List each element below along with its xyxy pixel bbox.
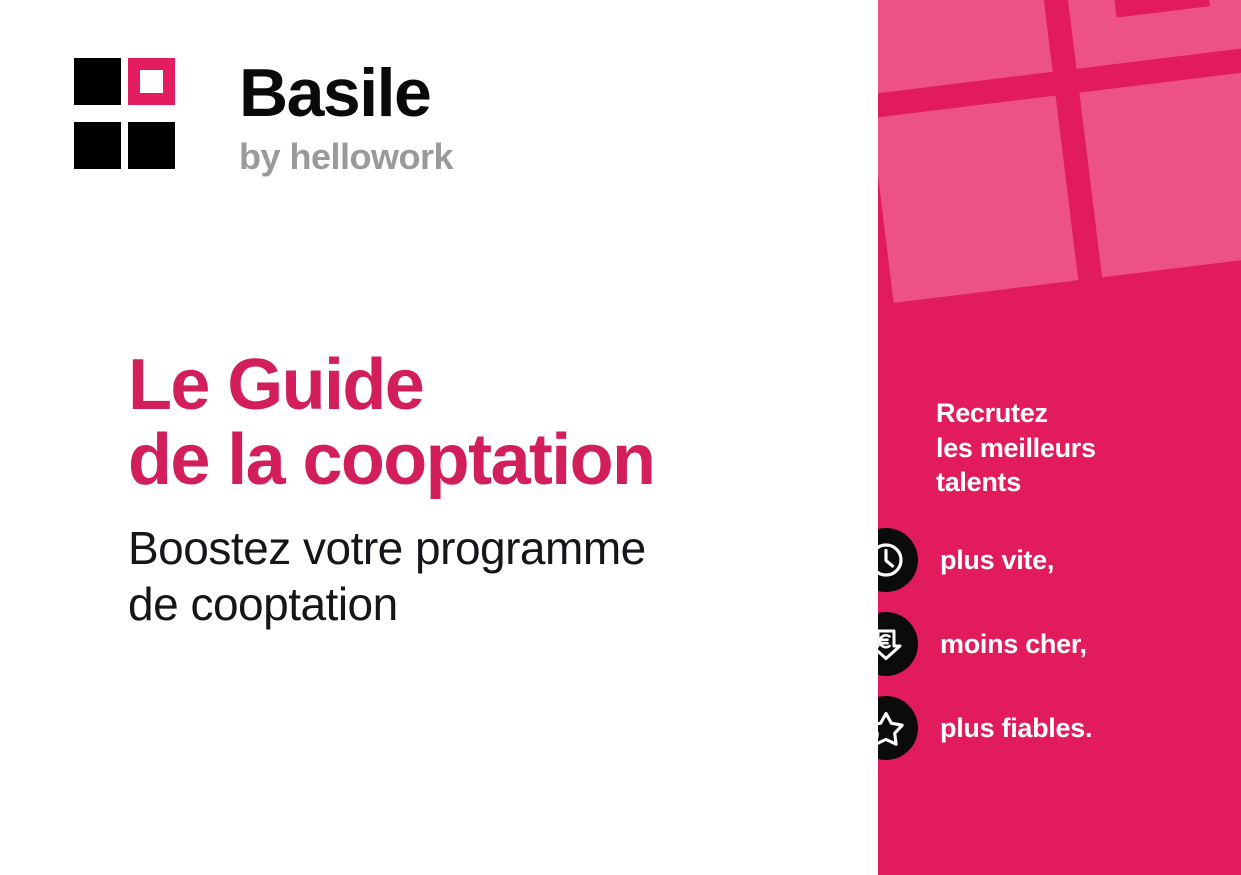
page-title-line-1: Le Guide (128, 348, 858, 423)
brand-wordmark: Basile (239, 60, 453, 127)
euro-down-arrow-icon (878, 612, 918, 676)
cover-page: Basile by hellowork Le Guide de la coopt… (0, 0, 1241, 875)
right-accent-panel: Recrutez les meilleurs talents plus vite… (878, 0, 1241, 875)
panel-heading-line-3: talents (936, 465, 1096, 500)
deco-square-bottom-left (878, 96, 1078, 303)
headline-block: Le Guide de la cooptation Boostez votre … (128, 348, 858, 632)
page-title-line-2: de la cooptation (128, 423, 858, 498)
clock-icon (878, 528, 918, 592)
page-title: Le Guide de la cooptation (128, 348, 858, 498)
deco-square-top-left (878, 0, 1053, 94)
benefits-list: plus vite, moins cher, (878, 526, 1241, 778)
logo-square-bottom-right (128, 122, 175, 169)
page-subtitle-line-1: Boostez votre programme (128, 520, 858, 576)
logo-square-bottom-left (74, 122, 121, 169)
star-icon (878, 696, 918, 760)
deco-square-top-right (1054, 0, 1241, 69)
brand-logo-lockup: Basile by hellowork (74, 58, 453, 176)
deco-square-bottom-right (1079, 70, 1241, 277)
deco-square-top-right-hole (1105, 0, 1210, 18)
logo-square-top-left (74, 58, 121, 105)
page-subtitle-line-2: de cooptation (128, 576, 858, 632)
benefit-label-reliable: plus fiables. (940, 713, 1092, 744)
benefit-item-faster: plus vite, (878, 526, 1241, 594)
panel-heading-line-1: Recrutez (936, 396, 1096, 431)
benefit-label-cheaper: moins cher, (940, 629, 1087, 660)
decorative-four-square-pattern-icon (878, 0, 1241, 337)
panel-heading: Recrutez les meilleurs talents (936, 396, 1096, 500)
left-content-pane: Basile by hellowork Le Guide de la coopt… (0, 0, 878, 875)
benefit-item-cheaper: moins cher, (878, 610, 1241, 678)
benefit-label-faster: plus vite, (940, 545, 1054, 576)
basile-four-square-logo-icon (74, 58, 175, 169)
brand-wordmark-group: Basile by hellowork (239, 58, 453, 176)
page-subtitle: Boostez votre programme de cooptation (128, 520, 858, 632)
brand-byline: by hellowork (239, 137, 453, 177)
benefit-item-reliable: plus fiables. (878, 694, 1241, 762)
panel-heading-line-2: les meilleurs (936, 431, 1096, 466)
logo-square-top-right-hole (140, 70, 163, 93)
